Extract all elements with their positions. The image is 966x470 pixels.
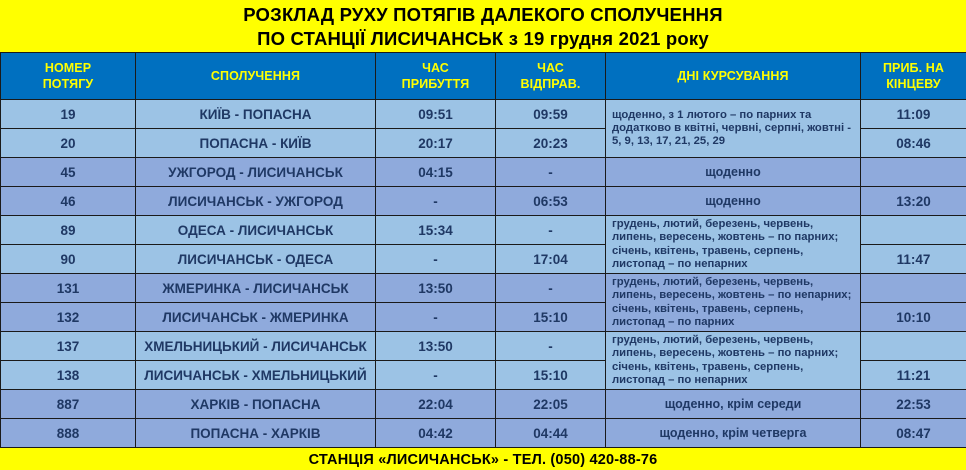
cell-departure: 20:23 — [496, 129, 606, 158]
cell-departure: - — [496, 274, 606, 303]
cell-route: ЖМЕРИНКА - ЛИСИЧАНСЬК — [136, 274, 376, 303]
cell-final-arrival — [861, 274, 966, 303]
cell-route: ЛИСИЧАНСЬК - УЖГОРОД — [136, 187, 376, 216]
cell-final-arrival: 11:47 — [861, 245, 966, 274]
station-contact-text: СТАНЦІЯ «ЛИСИЧАНСЬК» - ТЕЛ. (050) 420-88… — [309, 452, 658, 468]
cell-final-arrival: 13:20 — [861, 187, 966, 216]
footer-banner: СТАНЦІЯ «ЛИСИЧАНСЬК» - ТЕЛ. (050) 420-88… — [0, 448, 966, 470]
cell-running-days: грудень, лютий, березень, червень, липен… — [606, 216, 861, 274]
table-row: 888 ПОПАСНА - ХАРКІВ 04:42 04:44 щоденно… — [1, 419, 966, 448]
cell-train-number: 887 — [1, 390, 136, 419]
page-title-line-2: ПО СТАНЦІЇ ЛИСИЧАНСЬК з 19 грудня 2021 р… — [0, 25, 966, 49]
column-header-line-2: ПОТЯГУ — [1, 76, 135, 92]
cell-train-number: 131 — [1, 274, 136, 303]
column-header-final-arrival: ПРИБ. НА КІНЦЕВУ — [861, 53, 966, 100]
cell-arrival: 13:50 — [376, 274, 496, 303]
cell-train-number: 45 — [1, 158, 136, 187]
cell-route: ЛИСИЧАНСЬК - ОДЕСА — [136, 245, 376, 274]
cell-train-number: 20 — [1, 129, 136, 158]
cell-departure: - — [496, 216, 606, 245]
table-header: НОМЕР ПОТЯГУ СПОЛУЧЕННЯ ЧАС ПРИБУТТЯ ЧАС… — [1, 53, 966, 100]
cell-departure: 15:10 — [496, 303, 606, 332]
cell-arrival: 15:34 — [376, 216, 496, 245]
cell-running-days: грудень, лютий, березень, червень, липен… — [606, 332, 861, 390]
cell-final-arrival — [861, 158, 966, 187]
cell-train-number: 46 — [1, 187, 136, 216]
cell-train-number: 888 — [1, 419, 136, 448]
page-title-line-1: РОЗКЛАД РУХУ ПОТЯГІВ ДАЛЕКОГО СПОЛУЧЕННЯ — [0, 3, 966, 25]
title-banner: РОЗКЛАД РУХУ ПОТЯГІВ ДАЛЕКОГО СПОЛУЧЕННЯ… — [0, 0, 966, 52]
cell-arrival: 04:42 — [376, 419, 496, 448]
table-row: 131 ЖМЕРИНКА - ЛИСИЧАНСЬК 13:50 - груден… — [1, 274, 966, 303]
cell-train-number: 19 — [1, 100, 136, 129]
cell-arrival: 09:51 — [376, 100, 496, 129]
cell-running-days: щоденно — [606, 187, 861, 216]
cell-final-arrival — [861, 216, 966, 245]
cell-route: ПОПАСНА - КИЇВ — [136, 129, 376, 158]
cell-route: ЛИСИЧАНСЬК - ЖМЕРИНКА — [136, 303, 376, 332]
cell-arrival: - — [376, 303, 496, 332]
cell-train-number: 132 — [1, 303, 136, 332]
column-header-line-1: ЧАС — [496, 60, 605, 76]
column-header-departure-time: ЧАС ВІДПРАВ. — [496, 53, 606, 100]
cell-train-number: 138 — [1, 361, 136, 390]
cell-route: ПОПАСНА - ХАРКІВ — [136, 419, 376, 448]
column-header-line-2: ПРИБУТТЯ — [376, 76, 495, 92]
cell-departure: 17:04 — [496, 245, 606, 274]
cell-train-number: 89 — [1, 216, 136, 245]
cell-departure: 09:59 — [496, 100, 606, 129]
column-header-line-2: КІНЦЕВУ — [861, 76, 966, 92]
cell-train-number: 90 — [1, 245, 136, 274]
column-header-line-1: ПРИБ. НА — [861, 60, 966, 76]
cell-running-days: щоденно — [606, 158, 861, 187]
column-header-route: СПОЛУЧЕННЯ — [136, 53, 376, 100]
cell-route: УЖГОРОД - ЛИСИЧАНСЬК — [136, 158, 376, 187]
cell-route: ЛИСИЧАНСЬК - ХМЕЛЬНИЦЬКИЙ — [136, 361, 376, 390]
table-body: 19 КИЇВ - ПОПАСНА 09:51 09:59 щоденно, з… — [1, 100, 966, 448]
column-header-line-1: ДНІ КУРСУВАННЯ — [606, 68, 860, 84]
cell-route: ОДЕСА - ЛИСИЧАНСЬК — [136, 216, 376, 245]
cell-running-days: грудень, лютий, березень, червень, липен… — [606, 274, 861, 332]
cell-route: КИЇВ - ПОПАСНА — [136, 100, 376, 129]
cell-final-arrival: 08:47 — [861, 419, 966, 448]
cell-arrival: 20:17 — [376, 129, 496, 158]
cell-train-number: 137 — [1, 332, 136, 361]
column-header-arrival-time: ЧАС ПРИБУТТЯ — [376, 53, 496, 100]
cell-departure: 22:05 — [496, 390, 606, 419]
cell-final-arrival: 08:46 — [861, 129, 966, 158]
cell-arrival: - — [376, 187, 496, 216]
cell-running-days: щоденно, з 1 лютого – по парних та додат… — [606, 100, 861, 158]
table-row: 45 УЖГОРОД - ЛИСИЧАНСЬК 04:15 - щоденно — [1, 158, 966, 187]
cell-arrival: 04:15 — [376, 158, 496, 187]
table-row: 137 ХМЕЛЬНИЦЬКИЙ - ЛИСИЧАНСЬК 13:50 - гр… — [1, 332, 966, 361]
schedule-poster: РОЗКЛАД РУХУ ПОТЯГІВ ДАЛЕКОГО СПОЛУЧЕННЯ… — [0, 0, 966, 470]
cell-final-arrival — [861, 332, 966, 361]
column-header-line-1: СПОЛУЧЕННЯ — [136, 68, 375, 84]
cell-departure: - — [496, 332, 606, 361]
cell-route: ХАРКІВ - ПОПАСНА — [136, 390, 376, 419]
table-header-row: НОМЕР ПОТЯГУ СПОЛУЧЕННЯ ЧАС ПРИБУТТЯ ЧАС… — [1, 53, 966, 100]
column-header-line-1: НОМЕР — [1, 60, 135, 76]
cell-final-arrival: 11:21 — [861, 361, 966, 390]
cell-final-arrival: 11:09 — [861, 100, 966, 129]
cell-departure: 15:10 — [496, 361, 606, 390]
table-row: 887 ХАРКІВ - ПОПАСНА 22:04 22:05 щоденно… — [1, 390, 966, 419]
cell-arrival: - — [376, 245, 496, 274]
column-header-line-1: ЧАС — [376, 60, 495, 76]
table-row: 89 ОДЕСА - ЛИСИЧАНСЬК 15:34 - грудень, л… — [1, 216, 966, 245]
column-header-running-days: ДНІ КУРСУВАННЯ — [606, 53, 861, 100]
cell-arrival: 13:50 — [376, 332, 496, 361]
cell-running-days: щоденно, крім четверга — [606, 419, 861, 448]
cell-running-days: щоденно, крім середи — [606, 390, 861, 419]
train-schedule-table: НОМЕР ПОТЯГУ СПОЛУЧЕННЯ ЧАС ПРИБУТТЯ ЧАС… — [0, 52, 966, 448]
cell-arrival: 22:04 — [376, 390, 496, 419]
table-row: 46 ЛИСИЧАНСЬК - УЖГОРОД - 06:53 щоденно … — [1, 187, 966, 216]
cell-final-arrival: 22:53 — [861, 390, 966, 419]
cell-departure: 04:44 — [496, 419, 606, 448]
cell-route: ХМЕЛЬНИЦЬКИЙ - ЛИСИЧАНСЬК — [136, 332, 376, 361]
cell-final-arrival: 10:10 — [861, 303, 966, 332]
column-header-line-2: ВІДПРАВ. — [496, 76, 605, 92]
cell-departure: 06:53 — [496, 187, 606, 216]
column-header-train-number: НОМЕР ПОТЯГУ — [1, 53, 136, 100]
cell-arrival: - — [376, 361, 496, 390]
cell-departure: - — [496, 158, 606, 187]
table-row: 19 КИЇВ - ПОПАСНА 09:51 09:59 щоденно, з… — [1, 100, 966, 129]
